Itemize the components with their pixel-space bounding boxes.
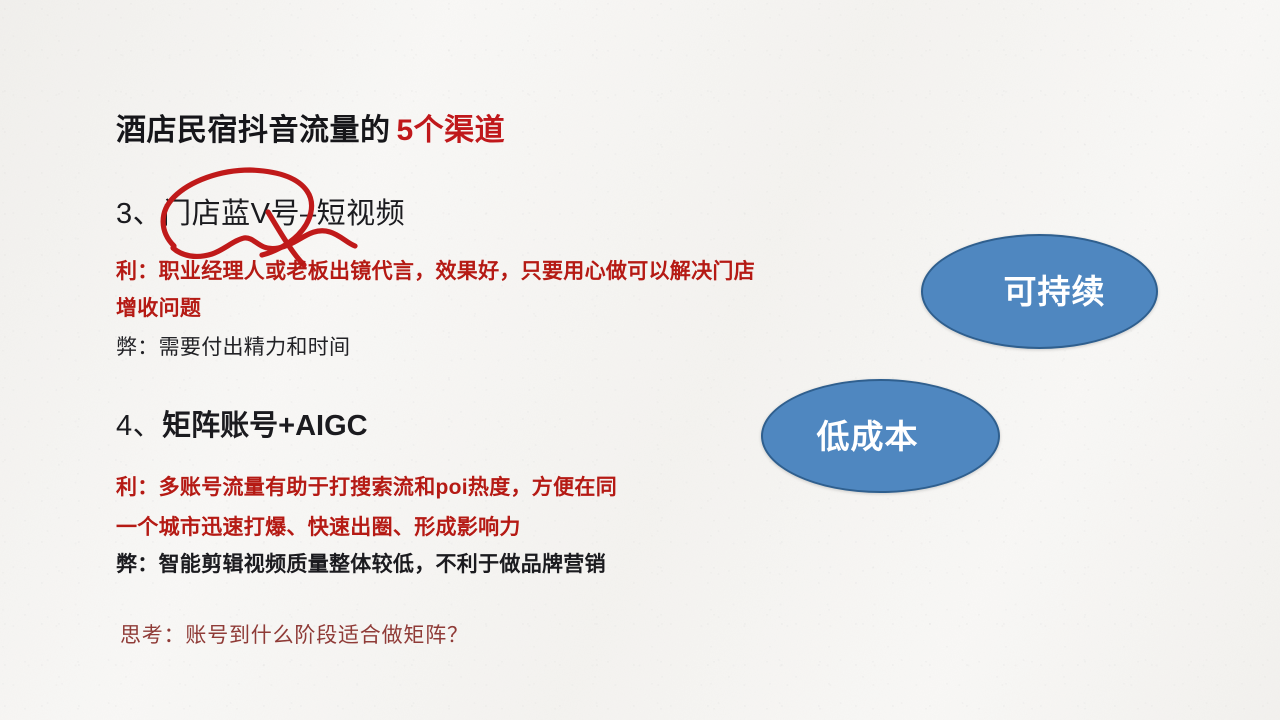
section-4-heading: 4、矩阵账号+AIGC [116, 402, 368, 444]
page-title: 酒店民宿抖音流量的5个渠道 [116, 105, 505, 149]
section-3-number: 3、 [116, 198, 162, 230]
section-4-title: 矩阵账号+AIGC [162, 410, 367, 442]
callout-ellipse-low-cost-label: 低成本 [817, 420, 945, 453]
callout-ellipse-sustainable-label: 可持续 [974, 275, 1106, 308]
section-4-con-line: 弊：智能剪辑视频质量整体较低，不利于做品牌营销 [116, 548, 606, 578]
page-title-lead: 酒店民宿抖音流量的 [116, 114, 391, 147]
footnote-question: 思考：账号到什么阶段适合做矩阵？ [120, 619, 469, 649]
section-3-title: 门店蓝V号–短视频 [162, 198, 405, 230]
section-4-pro-line-2: 一个城市迅速打爆、快速出圈、形成影响力 [116, 511, 521, 541]
callout-ellipse-low-cost: 低成本 [761, 379, 1000, 493]
section-3-heading: 3、门店蓝V号–短视频 [116, 190, 405, 232]
section-4-pro-line-1: 利：多账号流量有助于打搜索流和poi热度，方便在同 [116, 471, 617, 501]
section-4-number: 4、 [116, 410, 162, 442]
section-3-con-line: 弊：需要付出精力和时间 [116, 331, 350, 361]
section-3-pro-line-2: 增收问题 [116, 292, 201, 322]
slide-content: 酒店民宿抖音流量的5个渠道 3、门店蓝V号–短视频 利：职业经理人或老板出镜代言… [0, 0, 1280, 720]
callout-ellipse-sustainable: 可持续 [921, 234, 1158, 349]
section-3-pro-line-1: 利：职业经理人或老板出镜代言，效果好，只要用心做可以解决门店 [116, 255, 755, 285]
page-title-accent: 5个渠道 [397, 114, 506, 147]
